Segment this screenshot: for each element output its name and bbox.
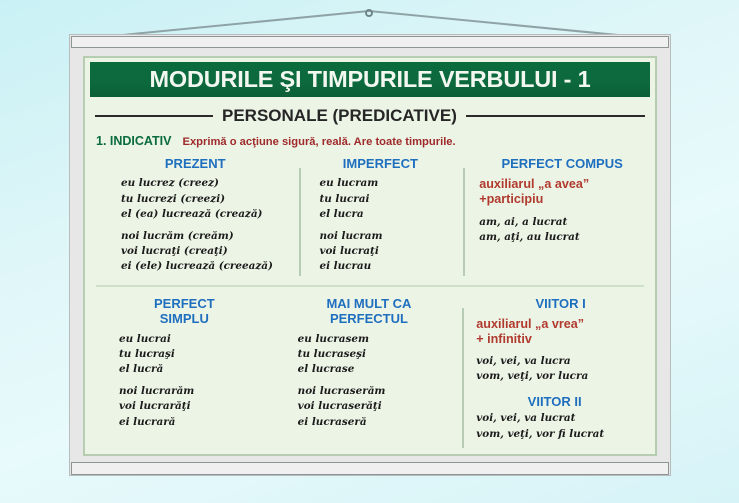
poster-sheet: MODURILE ŞI TIMPURILE VERBULUI - 1 PERSO…: [83, 56, 657, 456]
heading-rule-right: [466, 115, 645, 117]
form-line: voi lucraţi (creaţi): [121, 244, 301, 259]
form-line: ei lucraseră: [298, 415, 465, 430]
form-line: vom, veţi, vor fi lucrat: [476, 427, 645, 442]
form-line: tu lucraşi: [119, 347, 274, 362]
form-line: voi, vei, va lucra: [476, 354, 645, 369]
tense-title-perfect-simplu: PERFECT SIMPLU: [95, 296, 274, 327]
tense-forms-mai-mult-ca-perfectul: eu lucrasem tu lucraseşi el lucrase noi …: [274, 332, 465, 430]
form-line: voi lucraserăţi: [298, 399, 465, 414]
tense-title-viitor-2: VIITOR II: [476, 394, 645, 409]
mood-label: 1. INDICATIV: [96, 134, 171, 148]
form-line: el lucra: [319, 207, 465, 222]
form-line: ei (ele) lucrează (creează): [121, 259, 301, 274]
form-line: eu lucrai: [119, 332, 274, 347]
tense-forms-viitor-1: voi, vei, va lucra vom, veţi, vor lucra: [476, 354, 645, 385]
form-line: el (ea) lucrează (crează): [121, 207, 301, 222]
form-line: noi lucrăm (creăm): [121, 229, 301, 244]
tense-row-top: PREZENT eu lucrez (creez) tu lucrezi (cr…: [95, 154, 645, 280]
row-divider: [96, 285, 644, 287]
tense-block-imperfect: IMPERFECT eu lucram tu lucrai el lucra n…: [301, 154, 465, 280]
form-line: noi lucram: [319, 229, 465, 244]
wall-background: MODURILE ŞI TIMPURILE VERBULUI - 1 PERSO…: [0, 0, 739, 503]
page-title: MODURILE ŞI TIMPURILE VERBULUI - 1: [149, 66, 590, 93]
form-line: voi lucraţi: [319, 244, 465, 259]
tense-formula-viitor-1: auxiliarul „a vrea” + infinitiv: [476, 317, 645, 347]
section-heading-label: PERSONALE (PREDICATIVE): [222, 106, 457, 126]
poster-title-bar: MODURILE ŞI TIMPURILE VERBULUI - 1: [90, 62, 650, 97]
poster-bottom-roller: [71, 462, 669, 475]
form-line: noi lucraserăm: [298, 384, 465, 399]
tense-forms-prezent: eu lucrez (creez) tu lucrezi (creezi) el…: [95, 176, 301, 274]
form-line: ei lucrară: [119, 415, 274, 430]
tense-title-viitor-1: VIITOR I: [476, 296, 645, 311]
form-line: ei lucrau: [319, 259, 465, 274]
poster-top-roller: [71, 36, 669, 48]
tense-block-perfect-simplu: PERFECT SIMPLU eu lucrai tu lucraşi el l…: [95, 294, 274, 452]
mood-description: Exprimă o acţiune sigură, reală. Are toa…: [182, 136, 455, 148]
tense-block-mai-mult-ca-perfectul: MAI MULT CA PERFECTUL eu lucrasem tu luc…: [274, 294, 465, 452]
tense-block-perfect-compus: PERFECT COMPUS auxiliarul „a avea” +part…: [465, 154, 645, 280]
form-line: vom, veţi, vor lucra: [476, 369, 645, 384]
heading-rule-left: [95, 115, 213, 117]
tense-formula-perfect-compus: auxiliarul „a avea” +participiu: [479, 177, 645, 207]
tense-forms-perfect-compus: am, ai, a lucrat am, aţi, au lucrat: [479, 215, 645, 246]
tense-title-mai-mult-ca-perfectul: MAI MULT CA PERFECTUL: [274, 296, 465, 327]
form-line: am, aţi, au lucrat: [479, 230, 645, 245]
tense-title-prezent: PREZENT: [95, 156, 301, 171]
tense-title-perfect-compus: PERFECT COMPUS: [479, 156, 645, 171]
form-line: noi lucrarăm: [119, 384, 274, 399]
form-line: tu lucrezi (creezi): [121, 192, 301, 207]
form-line: am, ai, a lucrat: [479, 215, 645, 230]
section-heading: PERSONALE (PREDICATIVE): [95, 106, 645, 126]
tense-forms-perfect-simplu: eu lucrai tu lucraşi el lucră noi lucrar…: [95, 332, 274, 430]
form-line: el lucrase: [298, 362, 465, 377]
tense-row-bottom: PERFECT SIMPLU eu lucrai tu lucraşi el l…: [95, 294, 645, 452]
form-line: tu lucraseşi: [298, 347, 465, 362]
tense-block-viitor: VIITOR I auxiliarul „a vrea” + infinitiv…: [464, 294, 645, 452]
form-line: voi lucrarăţi: [119, 399, 274, 414]
form-line: eu lucrez (creez): [121, 176, 301, 191]
form-line: eu lucrasem: [298, 332, 465, 347]
mood-line: 1. INDICATIV Exprimă o acţiune sigură, r…: [96, 134, 655, 148]
tense-forms-viitor-2: voi, vei, va lucrat vom, veţi, vor fi lu…: [476, 411, 645, 442]
form-line: voi, vei, va lucrat: [476, 411, 645, 426]
tense-forms-imperfect: eu lucram tu lucrai el lucra noi lucram …: [301, 176, 465, 274]
tense-title-imperfect: IMPERFECT: [301, 156, 465, 171]
form-line: el lucră: [119, 362, 274, 377]
tense-block-prezent: PREZENT eu lucrez (creez) tu lucrezi (cr…: [95, 154, 301, 280]
form-line: tu lucrai: [319, 192, 465, 207]
form-line: eu lucram: [319, 176, 465, 191]
